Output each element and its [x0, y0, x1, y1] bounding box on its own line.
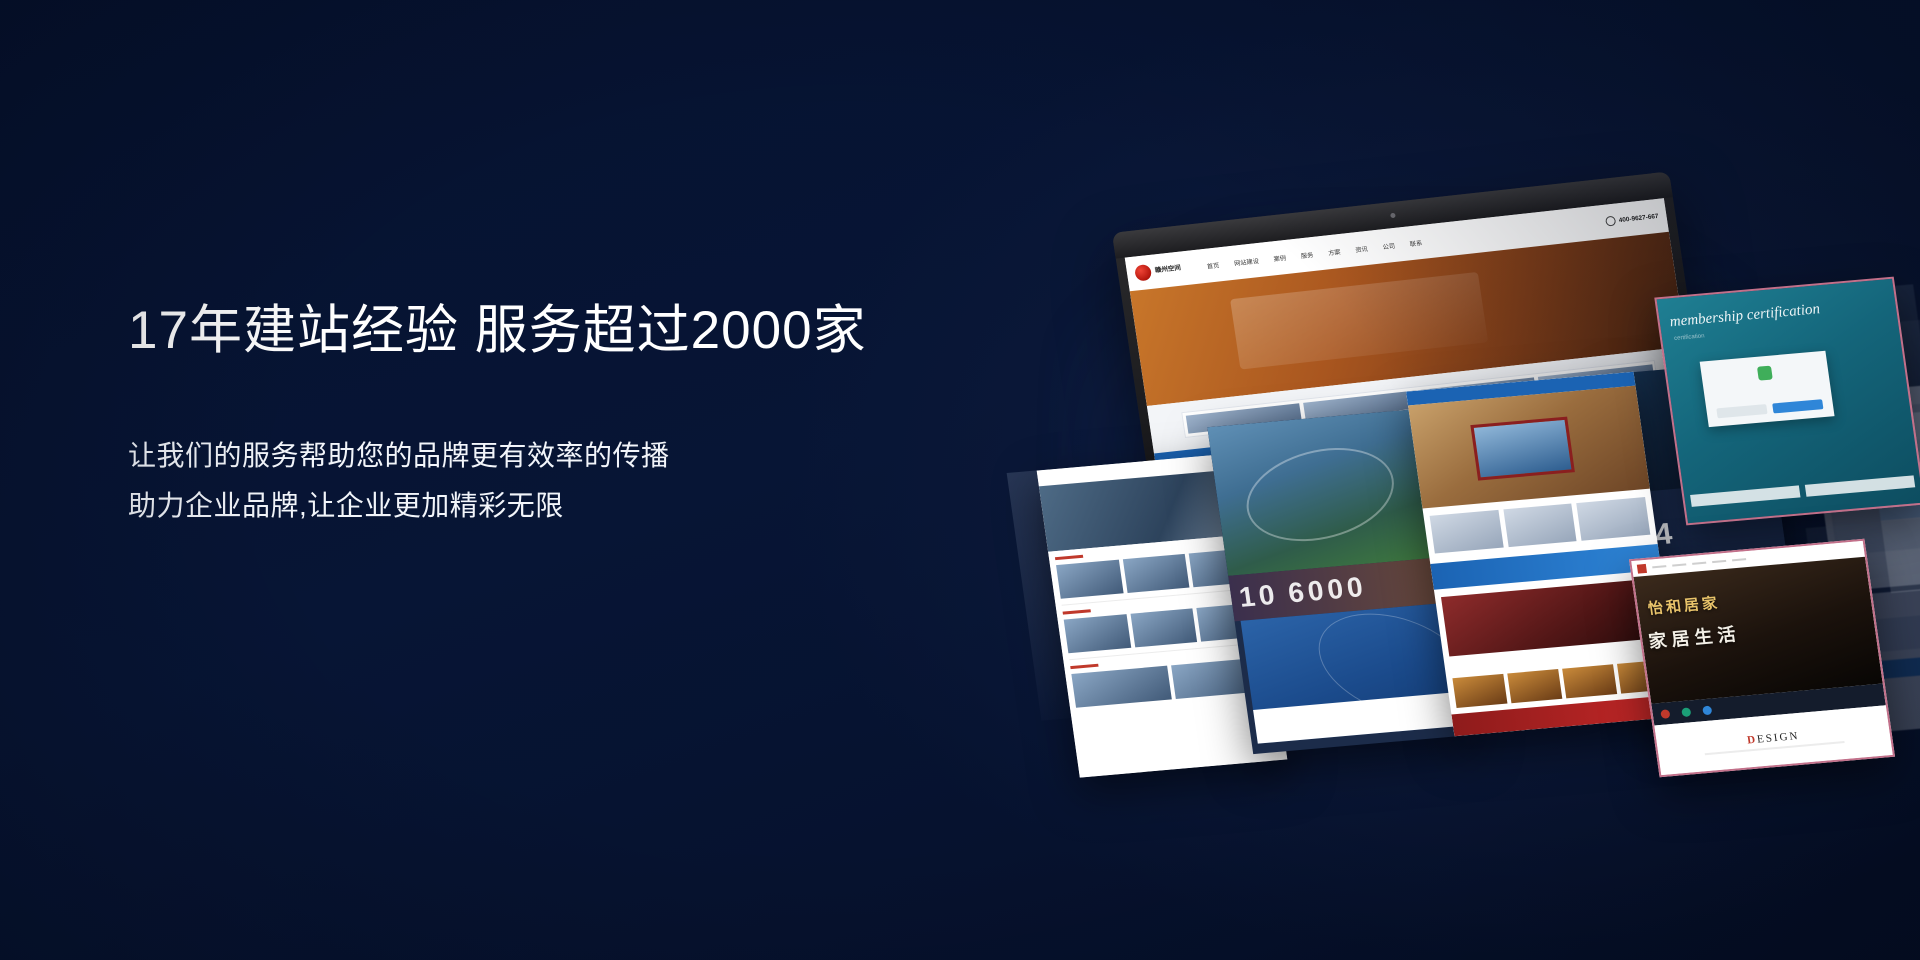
- hero-subtext: 让我们的服务帮助您的品牌更有效率的传播 助力企业品牌,让企业更加精彩无限: [128, 431, 948, 531]
- site-phone: 400-9627-667: [1605, 211, 1659, 227]
- panel-number-right: 6000: [1286, 571, 1369, 610]
- panel-dialog[interactable]: [1700, 351, 1835, 427]
- logo-mark-icon: [1134, 264, 1152, 282]
- site-logo-text: 赣州空间: [1155, 265, 1182, 275]
- site-logo[interactable]: 赣州空间: [1134, 261, 1182, 282]
- panel-brand-rest: ESIGN: [1756, 729, 1800, 745]
- panel-headline: 怡和居家: [1647, 592, 1722, 619]
- phone-icon: [1605, 216, 1616, 227]
- panel-subhead: 家居生活: [1647, 620, 1742, 654]
- site-nav-item-1[interactable]: 网站建设: [1233, 256, 1259, 268]
- site-nav-item-5[interactable]: 资讯: [1355, 243, 1369, 253]
- dialog-cancel-button[interactable]: [1716, 404, 1767, 418]
- panel-brand: DESIGN: [1746, 729, 1800, 745]
- page-title: 17年建站经验 服务超过2000家: [128, 300, 948, 363]
- site-nav-item-6[interactable]: 公司: [1382, 240, 1396, 250]
- showcase-illustration: 赣州空间 首页 网站建设 案例 服务 方案 资讯 公司 联系 400-: [1030, 170, 1920, 810]
- panel-membership-certification[interactable]: membership certification certification: [1654, 277, 1920, 526]
- dialog-confirm-button[interactable]: [1772, 399, 1823, 413]
- webcam-icon: [1390, 213, 1396, 218]
- panel-logo-icon: [1637, 563, 1647, 573]
- site-nav-item-2[interactable]: 案例: [1273, 253, 1287, 263]
- site-nav-item-4[interactable]: 方案: [1327, 247, 1341, 257]
- panel-theatre-interior[interactable]: [1406, 372, 1682, 737]
- site-nav-item-0[interactable]: 首页: [1206, 260, 1220, 270]
- hero-subline-1: 让我们的服务帮助您的品牌更有效率的传播: [128, 431, 948, 481]
- panel-subtitle: certification: [1674, 333, 1705, 342]
- panel-title: membership certification: [1669, 301, 1821, 331]
- hero-copy: 17年建站经验 服务超过2000家 让我们的服务帮助您的品牌更有效率的传播 助力…: [128, 300, 948, 531]
- panel-number-left: 10: [1237, 579, 1281, 614]
- hero-subline-2: 助力企业品牌,让企业更加精彩无限: [128, 481, 948, 531]
- site-nav-item-3[interactable]: 服务: [1300, 250, 1314, 260]
- check-icon: [1757, 366, 1773, 381]
- panel-interior-design[interactable]: 怡和居家 家居生活 DESIGN: [1629, 539, 1895, 777]
- site-phone-number: 400-9627-667: [1618, 212, 1659, 223]
- site-nav-item-7[interactable]: 联系: [1409, 237, 1423, 247]
- hero-banner: 17年建站经验 服务超过2000家 让我们的服务帮助您的品牌更有效率的传播 助力…: [0, 0, 1920, 960]
